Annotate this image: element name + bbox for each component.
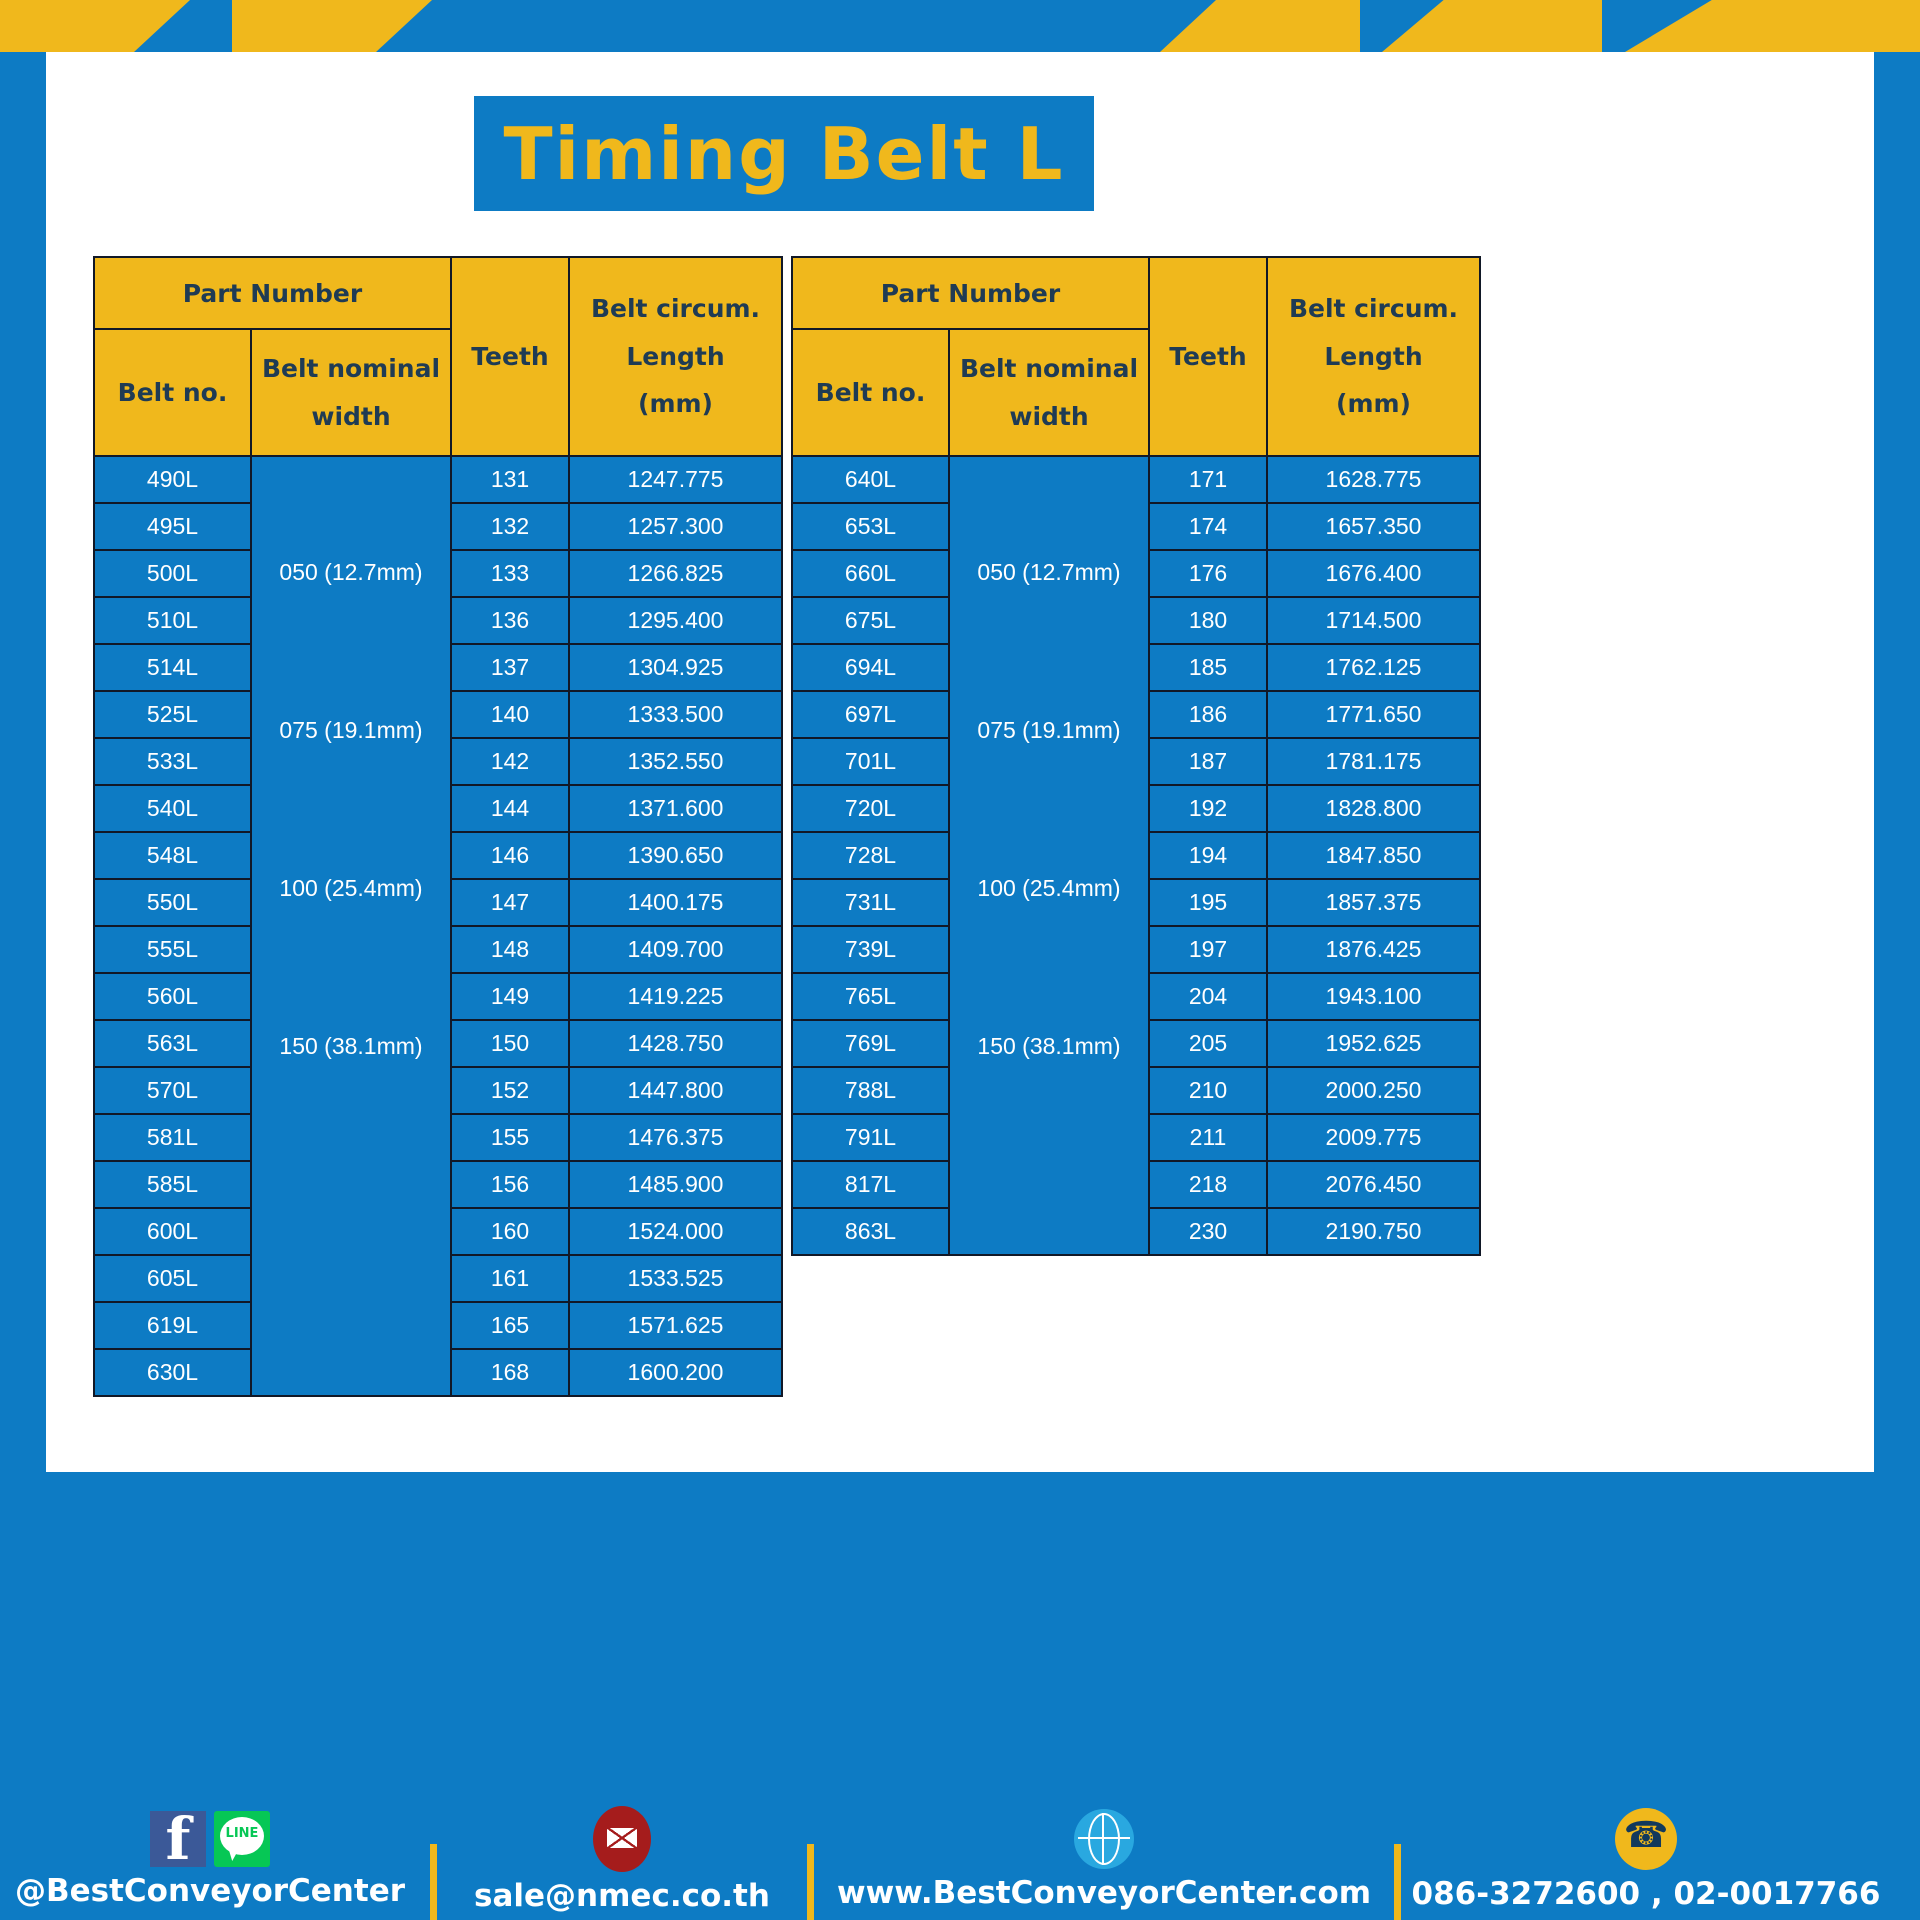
cell-teeth: 142	[452, 739, 568, 784]
cell-belt-no: 817L	[793, 1162, 948, 1207]
cell-belt-no: 630L	[95, 1350, 250, 1395]
cell-teeth: 204	[1150, 974, 1266, 1019]
header-teeth: Teeth	[1150, 258, 1266, 455]
line-icon[interactable]: LINE	[214, 1811, 270, 1867]
cell-teeth: 150	[452, 1021, 568, 1066]
cell-belt-no: 560L	[95, 974, 250, 1019]
cell-length: 1447.800	[570, 1068, 781, 1113]
width-label: 150 (38.1mm)	[950, 1035, 1148, 1058]
cell-teeth: 187	[1150, 739, 1266, 784]
cell-length: 1828.800	[1268, 786, 1479, 831]
cell-belt-no: 570L	[95, 1068, 250, 1113]
header-belt-circum-length: Belt circum. Length (mm)	[570, 258, 781, 455]
width-label: 050 (12.7mm)	[252, 561, 450, 584]
social-icons: LINE	[150, 1811, 270, 1867]
cell-length: 1657.350	[1268, 504, 1479, 549]
cell-length: 2009.775	[1268, 1115, 1479, 1160]
cell-teeth: 176	[1150, 551, 1266, 596]
cell-teeth: 205	[1150, 1021, 1266, 1066]
footer-phone-group[interactable]: ☎ 086-3272600 , 02-0017766	[1411, 1808, 1881, 1912]
cell-teeth: 194	[1150, 833, 1266, 878]
cell-teeth: 168	[452, 1350, 568, 1395]
cell-length: 1476.375	[570, 1115, 781, 1160]
timing-belt-table-right: Part Number Teeth Belt circum. Length (m…	[791, 256, 1481, 1256]
globe-ring-shape	[1088, 1813, 1120, 1865]
table-header-row: Part Number Teeth Belt circum. Length (m…	[95, 258, 781, 328]
header-belt-circum: Belt circum.	[570, 285, 781, 333]
header-length: Length	[570, 333, 781, 381]
phone-text: 086-3272600 , 02-0017766	[1412, 1876, 1881, 1912]
header-mm-unit: (mm)	[570, 380, 781, 428]
cell-length: 1676.400	[1268, 551, 1479, 596]
header-belt-nominal-width: Belt nominal width	[950, 330, 1148, 455]
cell-length: 1847.850	[1268, 833, 1479, 878]
chevron-decoration	[232, 0, 432, 52]
cell-length: 1352.550	[570, 739, 781, 784]
width-label: 075 (19.1mm)	[950, 719, 1148, 742]
website-text: www.BestConveyorCenter.com	[837, 1875, 1371, 1911]
cell-teeth: 197	[1150, 927, 1266, 972]
cell-teeth: 161	[452, 1256, 568, 1301]
cell-belt-no: 728L	[793, 833, 948, 878]
cell-length: 1333.500	[570, 692, 781, 737]
cell-belt-no: 788L	[793, 1068, 948, 1113]
cell-length: 1485.900	[570, 1162, 781, 1207]
chevron-decoration	[1625, 0, 1920, 52]
table-header-row: Part Number Teeth Belt circum. Length (m…	[793, 258, 1479, 328]
cell-length: 1762.125	[1268, 645, 1479, 690]
cell-length: 2000.250	[1268, 1068, 1479, 1113]
cell-length: 1600.200	[570, 1350, 781, 1395]
cell-belt-no: 510L	[95, 598, 250, 643]
width-label: 100 (25.4mm)	[252, 877, 450, 900]
timing-belt-table-left: Part Number Teeth Belt circum. Length (m…	[93, 256, 783, 1397]
cell-belt-no: 525L	[95, 692, 250, 737]
page-title-text: Timing Belt L	[503, 112, 1064, 196]
cell-length: 1952.625	[1268, 1021, 1479, 1066]
cell-belt-nominal-width: 050 (12.7mm)075 (19.1mm)100 (25.4mm)150 …	[950, 457, 1148, 1254]
cell-length: 1390.650	[570, 833, 781, 878]
table-body-left: 490L050 (12.7mm)075 (19.1mm)100 (25.4mm)…	[95, 457, 781, 1395]
cell-length: 1247.775	[570, 457, 781, 502]
cell-teeth: 132	[452, 504, 568, 549]
header-belt-nominal: Belt nominal	[950, 345, 1148, 393]
cell-belt-no: 640L	[793, 457, 948, 502]
cell-teeth: 136	[452, 598, 568, 643]
footer-divider	[1394, 1844, 1401, 1920]
cell-teeth: 152	[452, 1068, 568, 1113]
cell-belt-no: 660L	[793, 551, 948, 596]
cell-length: 1714.500	[1268, 598, 1479, 643]
line-bubble-shape: LINE	[220, 1817, 264, 1855]
cell-teeth: 165	[452, 1303, 568, 1348]
cell-length: 1781.175	[1268, 739, 1479, 784]
cell-teeth: 186	[1150, 692, 1266, 737]
table-row: 490L050 (12.7mm)075 (19.1mm)100 (25.4mm)…	[95, 457, 781, 502]
cell-teeth: 160	[452, 1209, 568, 1254]
phone-icon[interactable]: ☎	[1615, 1808, 1677, 1870]
cell-length: 1857.375	[1268, 880, 1479, 925]
cell-belt-no: 675L	[793, 598, 948, 643]
cell-teeth: 218	[1150, 1162, 1266, 1207]
cell-length: 1876.425	[1268, 927, 1479, 972]
cell-belt-no: 605L	[95, 1256, 250, 1301]
width-label: 075 (19.1mm)	[252, 719, 450, 742]
cell-teeth: 137	[452, 645, 568, 690]
cell-length: 2190.750	[1268, 1209, 1479, 1254]
header-belt-no: Belt no.	[793, 330, 948, 455]
footer-divider	[430, 1844, 437, 1920]
cell-belt-no: 548L	[95, 833, 250, 878]
table-body-right: 640L050 (12.7mm)075 (19.1mm)100 (25.4mm)…	[793, 457, 1479, 1254]
social-handle-text: @BestConveyorCenter	[15, 1873, 405, 1909]
cell-belt-no: 720L	[793, 786, 948, 831]
cell-length: 1257.300	[570, 504, 781, 549]
cell-belt-no: 495L	[95, 504, 250, 549]
cell-belt-no: 739L	[793, 927, 948, 972]
cell-belt-nominal-width: 050 (12.7mm)075 (19.1mm)100 (25.4mm)150 …	[252, 457, 450, 1395]
cell-teeth: 155	[452, 1115, 568, 1160]
cell-teeth: 144	[452, 786, 568, 831]
cell-belt-no: 550L	[95, 880, 250, 925]
cell-length: 1400.175	[570, 880, 781, 925]
footer-contact-bar: LINE @BestConveyorCenter sale@nmec.co.th…	[0, 1800, 1920, 1920]
cell-length: 1943.100	[1268, 974, 1479, 1019]
cell-length: 1371.600	[570, 786, 781, 831]
header-belt-circum: Belt circum.	[1268, 285, 1479, 333]
header-teeth: Teeth	[452, 258, 568, 455]
cell-teeth: 230	[1150, 1209, 1266, 1254]
header-belt-nominal-width: Belt nominal width	[252, 330, 450, 455]
top-decoration-bar	[0, 0, 1920, 52]
header-belt-nominal: Belt nominal	[252, 345, 450, 393]
email-text: sale@nmec.co.th	[474, 1878, 770, 1914]
cell-belt-no: 585L	[95, 1162, 250, 1207]
cell-teeth: 195	[1150, 880, 1266, 925]
cell-teeth: 133	[452, 551, 568, 596]
cell-length: 1628.775	[1268, 457, 1479, 502]
footer-divider	[807, 1844, 814, 1920]
cell-teeth: 211	[1150, 1115, 1266, 1160]
header-belt-no: Belt no.	[95, 330, 250, 455]
footer-band: LINE @BestConveyorCenter sale@nmec.co.th…	[0, 1472, 1920, 1920]
width-label: 050 (12.7mm)	[950, 561, 1148, 584]
cell-belt-no: 697L	[793, 692, 948, 737]
cell-teeth: 180	[1150, 598, 1266, 643]
cell-belt-no: 555L	[95, 927, 250, 972]
cell-length: 1428.750	[570, 1021, 781, 1066]
cell-teeth: 149	[452, 974, 568, 1019]
cell-belt-no: 533L	[95, 739, 250, 784]
cell-belt-no: 500L	[95, 551, 250, 596]
cell-teeth: 192	[1150, 786, 1266, 831]
cell-teeth: 156	[452, 1162, 568, 1207]
cell-belt-no: 765L	[793, 974, 948, 1019]
footer-social-group[interactable]: LINE @BestConveyorCenter	[0, 1811, 420, 1909]
cell-length: 1304.925	[570, 645, 781, 690]
cell-teeth: 140	[452, 692, 568, 737]
cell-teeth: 210	[1150, 1068, 1266, 1113]
chevron-decoration	[0, 0, 190, 52]
cell-teeth: 185	[1150, 645, 1266, 690]
cell-belt-no: 490L	[95, 457, 250, 502]
header-width: width	[950, 393, 1148, 441]
cell-length: 1266.825	[570, 551, 781, 596]
cell-belt-no: 514L	[95, 645, 250, 690]
table-row: 640L050 (12.7mm)075 (19.1mm)100 (25.4mm)…	[793, 457, 1479, 502]
mail-icon[interactable]	[593, 1806, 651, 1872]
header-belt-circum-length: Belt circum. Length (mm)	[1268, 258, 1479, 455]
facebook-icon[interactable]	[150, 1811, 206, 1867]
cell-belt-no: 694L	[793, 645, 948, 690]
page-title: Timing Belt L	[474, 96, 1094, 211]
cell-length: 1295.400	[570, 598, 781, 643]
chevron-decoration	[1160, 0, 1360, 52]
cell-length: 1409.700	[570, 927, 781, 972]
cell-teeth: 147	[452, 880, 568, 925]
cell-length: 1771.650	[1268, 692, 1479, 737]
globe-icon[interactable]	[1074, 1809, 1134, 1869]
header-mm-unit: (mm)	[1268, 380, 1479, 428]
cell-length: 1571.625	[570, 1303, 781, 1348]
header-width: width	[252, 393, 450, 441]
cell-teeth: 131	[452, 457, 568, 502]
cell-belt-no: 701L	[793, 739, 948, 784]
cell-teeth: 174	[1150, 504, 1266, 549]
chevron-decoration	[1382, 0, 1602, 52]
cell-teeth: 148	[452, 927, 568, 972]
cell-length: 1524.000	[570, 1209, 781, 1254]
cell-belt-no: 581L	[95, 1115, 250, 1160]
envelope-shape	[605, 1826, 639, 1850]
cell-belt-no: 791L	[793, 1115, 948, 1160]
cell-belt-no: 769L	[793, 1021, 948, 1066]
header-part-number: Part Number	[793, 258, 1148, 328]
cell-length: 2076.450	[1268, 1162, 1479, 1207]
cell-belt-no: 600L	[95, 1209, 250, 1254]
cell-belt-no: 619L	[95, 1303, 250, 1348]
cell-belt-no: 563L	[95, 1021, 250, 1066]
cell-length: 1533.525	[570, 1256, 781, 1301]
cell-teeth: 146	[452, 833, 568, 878]
header-length: Length	[1268, 333, 1479, 381]
width-label: 100 (25.4mm)	[950, 877, 1148, 900]
footer-website-group[interactable]: www.BestConveyorCenter.com	[824, 1809, 1384, 1911]
header-part-number: Part Number	[95, 258, 450, 328]
cell-teeth: 171	[1150, 457, 1266, 502]
cell-belt-no: 653L	[793, 504, 948, 549]
cell-belt-no: 863L	[793, 1209, 948, 1254]
cell-belt-no: 540L	[95, 786, 250, 831]
cell-length: 1419.225	[570, 974, 781, 1019]
cell-belt-no: 731L	[793, 880, 948, 925]
footer-email-group[interactable]: sale@nmec.co.th	[447, 1806, 797, 1914]
width-label: 150 (38.1mm)	[252, 1035, 450, 1058]
